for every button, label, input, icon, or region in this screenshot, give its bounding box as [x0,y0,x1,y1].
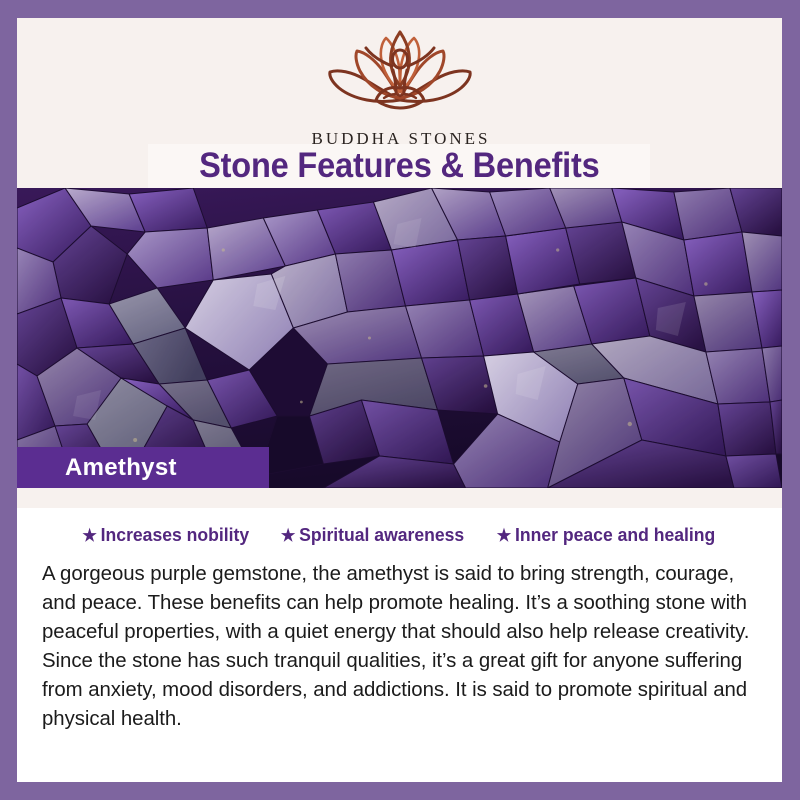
star-icon: ★ [281,527,295,544]
poster-card: BUDDHA STONES Stone Features & Benefits [17,18,782,782]
stone-name-banner: Amethyst [17,447,269,488]
stone-description: A gorgeous purple gemstone, the amethyst… [42,560,757,734]
benefit-label: Spiritual awareness [299,524,464,546]
poster-root: BUDDHA STONES Stone Features & Benefits [0,0,800,800]
amethyst-crystal-photo: Amethyst [17,188,782,488]
benefit-label: Inner peace and healing [515,524,715,546]
page-title-band: Stone Features & Benefits [148,144,650,188]
page-title: Stone Features & Benefits [199,146,600,186]
benefit-item-0: ★ Increases nobility [83,524,250,546]
star-icon: ★ [497,527,511,544]
cream-divider [17,488,782,508]
brand-logo: BUDDHA STONES [17,26,782,149]
benefits-row: ★ Increases nobility ★ Spiritual awarene… [31,508,768,546]
star-icon: ★ [83,527,97,544]
lotus-meditation-icon [316,26,484,127]
benefit-item-1: ★ Spiritual awareness [281,524,464,546]
benefit-label: Increases nobility [101,524,249,546]
stone-name: Amethyst [65,454,177,482]
benefit-item-2: ★ Inner peace and healing [497,524,716,546]
header: BUDDHA STONES Stone Features & Benefits [17,18,782,188]
content-panel: ★ Increases nobility ★ Spiritual awarene… [17,508,782,782]
